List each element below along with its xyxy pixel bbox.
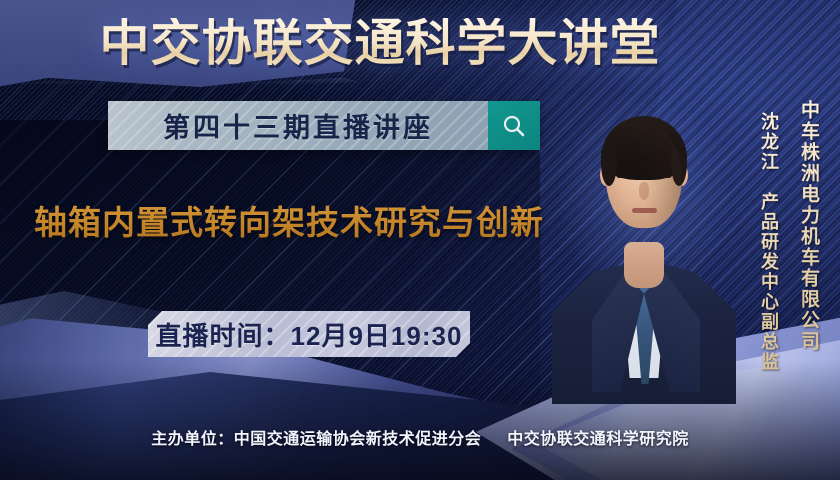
episode-banner-bar: 第四十三期直播讲座 (108, 101, 488, 150)
live-time-banner: 直播时间：12月9日19:30 (148, 311, 470, 357)
search-icon (501, 113, 527, 139)
speaker-portrait (548, 96, 738, 396)
episode-label: 第四十三期直播讲座 (163, 106, 433, 145)
speaker-company: 中车株洲电力机车有限公司 (795, 100, 822, 352)
footer-prefix: 主办单位： (151, 431, 234, 448)
footer-organizer-2: 中交协联交通科学研究院 (507, 431, 689, 448)
search-button[interactable] (488, 101, 540, 150)
page-title: 中交协联交通科学大讲堂 (0, 18, 760, 68)
footer-organizer-1: 中国交通运输协会新技术促进分会 (234, 431, 482, 448)
lecture-headline: 轴箱内置式转向架技术研究与创新 (34, 196, 544, 244)
live-lecture-poster: 中交协联交通科学大讲堂 第四十三期直播讲座 轴箱内置式转向架技术研究与创新 直播… (0, 0, 840, 480)
portrait-neck (624, 242, 664, 288)
footer-organizers: 主办单位：中国交通运输协会新技术促进分会中交协联交通科学研究院 (0, 425, 840, 449)
portrait-face-shading (606, 124, 682, 228)
speaker-name-title: 沈龙江 产品研发中心副总监 (756, 112, 782, 372)
live-time-text: 直播时间：12月9日19:30 (156, 316, 463, 353)
episode-banner: 第四十三期直播讲座 (108, 101, 540, 150)
